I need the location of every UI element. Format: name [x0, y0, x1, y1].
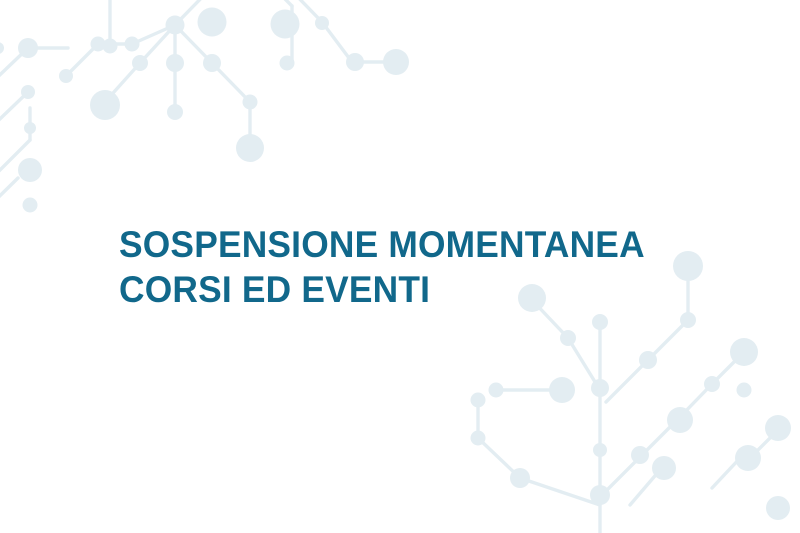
network-edge — [0, 140, 30, 200]
network-edge — [0, 48, 28, 92]
network-node — [346, 53, 364, 71]
network-node — [667, 407, 693, 433]
network-node — [18, 38, 38, 58]
network-node — [560, 330, 576, 346]
network-node — [271, 10, 300, 39]
network-edge — [752, 430, 778, 456]
network-node — [166, 16, 185, 35]
network-edge — [175, 0, 213, 25]
network-edge — [478, 438, 520, 478]
network-node — [315, 16, 329, 30]
network-node — [243, 95, 258, 110]
network-node — [471, 431, 486, 446]
network-node — [132, 55, 148, 71]
network-node — [737, 383, 752, 398]
network-node — [91, 37, 106, 52]
network-edge — [640, 417, 680, 457]
network-node — [383, 49, 409, 75]
network-edge — [322, 22, 352, 62]
network-node — [735, 445, 761, 471]
network-node — [236, 134, 264, 162]
network-edge — [66, 44, 98, 76]
network-node — [24, 122, 36, 134]
headline-line-2: CORSI ED EVENTI — [119, 267, 711, 312]
network-edge — [648, 320, 688, 360]
network-edge — [600, 457, 640, 497]
network-node — [59, 69, 73, 83]
network-node — [203, 54, 221, 72]
network-node — [166, 54, 184, 72]
network-node — [549, 377, 575, 403]
network-edge — [175, 25, 212, 63]
network-node — [489, 383, 504, 398]
network-node — [591, 379, 609, 397]
network-node — [510, 468, 530, 488]
network-node — [704, 376, 720, 392]
network-node — [765, 415, 791, 441]
network-edge — [630, 470, 660, 505]
network-edge — [712, 456, 742, 488]
network-node — [730, 338, 758, 366]
network-node — [652, 456, 676, 480]
network-edge — [212, 63, 250, 102]
network-node — [471, 393, 486, 408]
network-edge — [262, 0, 292, 6]
headline-line-1: SOSPENSIONE MOMENTANEA — [119, 222, 711, 267]
network-node — [103, 39, 118, 54]
network-node — [631, 446, 649, 464]
network-edge — [712, 356, 740, 384]
network-edge — [606, 360, 648, 402]
page-title: SOSPENSIONE MOMENTANEA CORSI ED EVENTI — [119, 222, 739, 312]
network-node — [198, 8, 227, 37]
network-edge — [520, 478, 600, 505]
network-node — [592, 314, 608, 330]
network-node — [90, 90, 120, 120]
network-node — [593, 443, 607, 457]
network-node — [280, 56, 295, 71]
network-node — [167, 104, 183, 120]
network-node — [18, 158, 42, 182]
network-node — [766, 496, 790, 520]
network-edge — [140, 25, 175, 63]
network-edge — [0, 178, 18, 235]
network-node — [21, 85, 35, 99]
network-edge — [0, 92, 28, 140]
network-node — [590, 485, 610, 505]
network-node — [23, 198, 38, 213]
network-edge — [132, 25, 175, 44]
network-node — [125, 37, 140, 52]
announcement-banner: SOSPENSIONE MOMENTANEA CORSI ED EVENTI — [0, 0, 800, 533]
network-node — [680, 312, 696, 328]
network-node — [639, 351, 657, 369]
network-edge — [680, 384, 712, 417]
network-edge — [105, 63, 140, 102]
network-edge — [258, 0, 322, 22]
network-node — [0, 42, 4, 54]
network-edge — [568, 338, 600, 390]
